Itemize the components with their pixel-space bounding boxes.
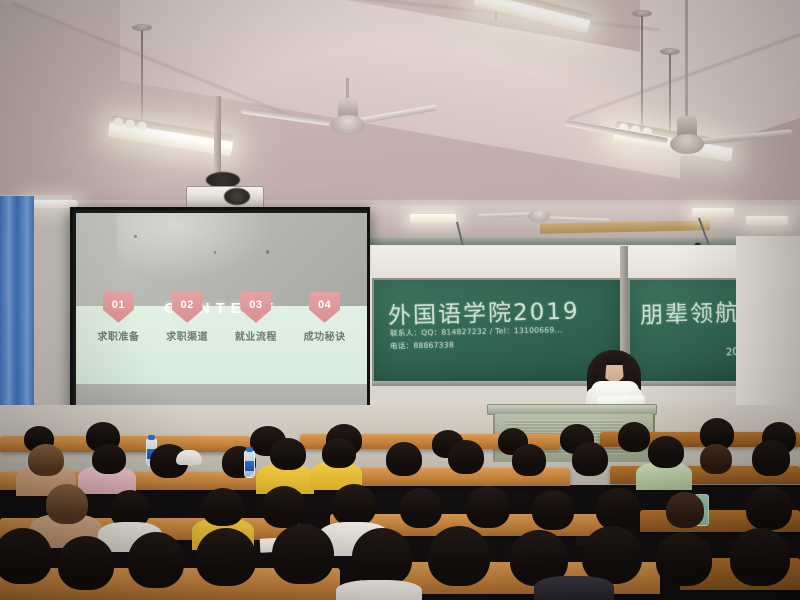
ceiling-fan-hub-2 [670,134,704,154]
audience-shoulders-e9 [534,576,614,600]
audience-head-d7 [466,486,510,528]
slide-item-label-2: 求职渠道 [157,328,217,343]
audience-head-c8 [448,440,484,474]
audience-head-d3 [202,488,244,526]
slide-content-items: 01 求职准备 02 求职渠道 03 就业流程 04 成功秘诀 [76,292,367,343]
white-cap [176,450,202,465]
lecture-hall-photo: CONTENT 01 求职准备 02 求职渠道 03 就业流程 04 成功秘诀 [0,0,800,600]
audience-head-c10 [572,442,608,476]
projector-glare [117,213,286,287]
slide-item-label-4: 成功秘诀 [295,328,355,343]
audience-head-e2 [58,536,114,590]
water-bottle-cap-2 [246,447,253,452]
screen-speck-3 [266,250,269,254]
projection-screen-frame: CONTENT 01 求职准备 02 求职渠道 03 就业流程 04 成功秘诀 [70,207,370,413]
blackboard-contact-line: 联系人：QQ：814827232 / Tel：13100669... [390,324,563,339]
slide-item-badge-3: 03 [240,292,271,323]
audience-area [0,410,800,600]
whiteboard-upper-panel [372,246,798,281]
audience-head-e11 [730,528,790,586]
audience-head-d8 [532,490,574,530]
audience-head-d10 [666,492,704,528]
audience-head-c5 [270,438,306,470]
slide-item-3: 03 就业流程 [226,292,286,343]
audience-head-c9 [512,444,546,476]
light-lobes-2 [480,0,514,3]
slide-item-label-1: 求职准备 [88,328,148,343]
audience-head-c12 [700,444,732,474]
audience-head-d1 [46,484,88,524]
soffit-fan-hub [528,210,550,222]
wall-lamp-center-right [692,208,734,217]
audience-head-e3 [128,532,184,588]
audience-head-c6 [322,438,356,468]
audience-head-e9 [582,526,642,584]
audience-head-d5 [332,484,376,526]
water-bottle-label-2 [245,461,254,471]
slide-item-badge-1: 01 [103,292,134,323]
light-hanger-3c [669,54,671,140]
slide-item-label-3: 就业流程 [226,328,286,343]
ceiling-fan-hub-1 [331,115,365,135]
slide-item-badge-4: 04 [309,292,340,323]
wall-lamp-left [410,214,456,223]
audience-head-c11 [648,436,684,468]
audience-head-c13 [752,440,790,476]
audience-head-e10 [656,532,712,586]
projector-cable-bundle [224,188,250,205]
audience-head-e1 [0,528,52,584]
audience-head-b8 [618,422,650,452]
audience-head-e4 [196,528,256,586]
audience-head-c1 [28,444,64,476]
water-bottle-cap [148,435,155,440]
audience-head-e7 [428,526,490,586]
projector-pole [214,96,221,182]
water-bottle-mid [244,450,255,478]
light-hanger-3 [641,16,643,138]
audience-head-c7 [386,442,422,476]
slide-item-badge-2: 02 [172,292,203,323]
audience-head-d4 [262,486,306,528]
audience-head-d9 [596,488,640,530]
audience-head-e6 [352,528,412,586]
slide-item-1: 01 求职准备 [88,292,148,343]
audience-head-e5 [272,524,334,584]
audience-head-c2 [92,444,126,474]
screen-speck-1 [134,235,137,238]
slide-item-2: 02 求职渠道 [157,292,217,343]
ceiling-fan-rod-2 [685,0,688,118]
screen-speck-2 [214,251,216,254]
slide-item-4: 04 成功秘诀 [295,292,355,343]
ceiling-fan-rod-1 [346,78,349,100]
projection-screen: CONTENT 01 求职准备 02 求职渠道 03 就业流程 04 成功秘诀 [76,213,367,410]
blackboard-contact-line-2: 电话：88867338 [390,339,454,351]
audience-head-d11 [746,486,792,530]
audience-head-d6 [400,488,442,528]
wall-lamp-right [746,216,788,225]
audience-shoulders-e6 [336,580,422,600]
